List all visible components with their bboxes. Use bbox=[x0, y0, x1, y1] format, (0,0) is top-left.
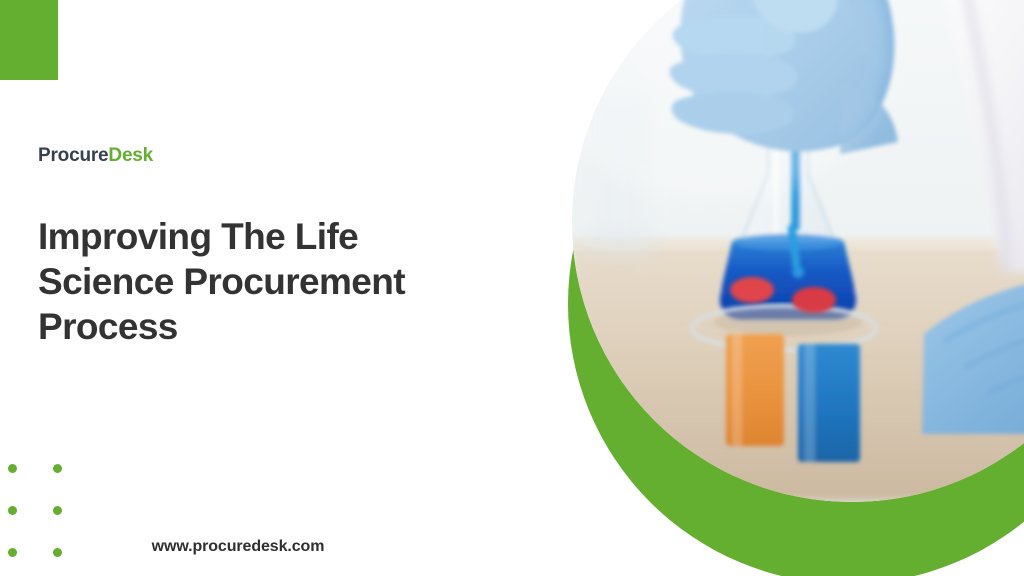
content-column: ProcureDesk Improving The Life Science P… bbox=[38, 146, 478, 349]
brand-logo-primary: Procure bbox=[38, 145, 108, 166]
dot bbox=[8, 464, 17, 473]
blog-banner: ProcureDesk Improving The Life Science P… bbox=[0, 0, 1024, 576]
dot-grid-decoration bbox=[8, 464, 98, 576]
dot bbox=[53, 464, 62, 473]
page-title: Improving The Life Science Procurement P… bbox=[38, 215, 468, 349]
dot bbox=[8, 506, 17, 515]
website-url[interactable]: www.procuredesk.com bbox=[0, 538, 1024, 556]
dot bbox=[53, 506, 62, 515]
media-stage bbox=[524, 0, 1024, 576]
corner-square-decoration bbox=[0, 0, 58, 80]
brand-logo-accent: Desk bbox=[108, 145, 153, 166]
brand-logo[interactable]: ProcureDesk bbox=[38, 146, 478, 165]
